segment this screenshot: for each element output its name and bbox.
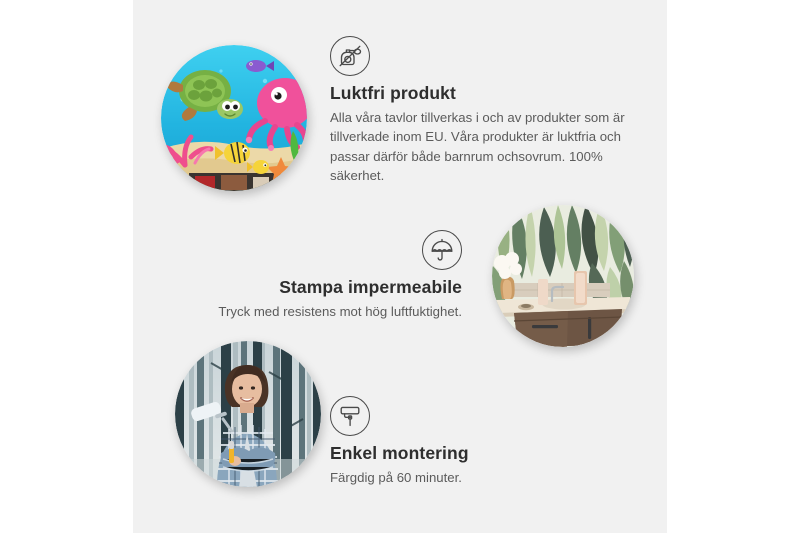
promo-infographic: Luktfri produkt Alla våra tavlor tillver… <box>0 0 800 533</box>
photo-bathroom-mural <box>492 205 634 347</box>
icon-wrap-mounting <box>330 396 370 436</box>
paint-roller-icon <box>330 396 370 436</box>
feature-body: Alla våra tavlor tillverkas i och av pro… <box>330 108 630 186</box>
photo-painter-forest-mural <box>175 341 321 487</box>
photo-sea-mural <box>161 45 307 191</box>
feature-waterproof: Stampa impermeabile Tryck med resistens … <box>180 230 462 321</box>
umbrella-icon <box>422 230 462 270</box>
feature-body: Färgdig på 60 minuter. <box>330 468 590 487</box>
feature-easy-mounting: Enkel montering Färgdig på 60 minuter. <box>330 396 590 487</box>
feature-title: Luktfri produkt <box>330 83 630 104</box>
feature-title: Enkel montering <box>330 443 590 464</box>
feature-title: Stampa impermeabile <box>180 277 462 298</box>
no-fragrance-icon <box>330 36 370 76</box>
icon-wrap-waterproof <box>422 230 462 270</box>
feature-odour-free: Luktfri produkt Alla våra tavlor tillver… <box>330 36 630 186</box>
feature-body: Tryck med resistens mot hög luftfuktighe… <box>180 302 462 321</box>
icon-wrap-odour <box>330 36 370 76</box>
